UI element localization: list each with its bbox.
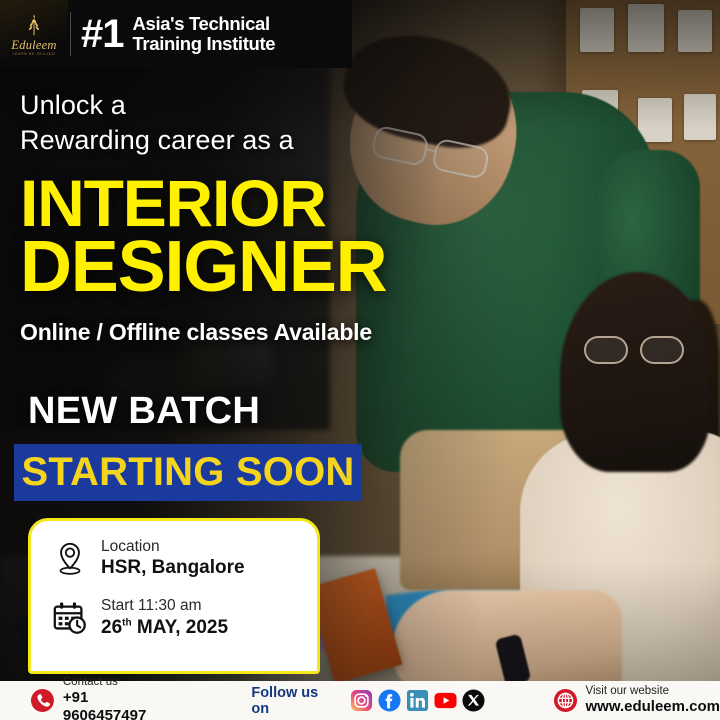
- brand-logo-wordmark: Eduleem: [11, 39, 56, 52]
- calendar-clock-icon: [51, 599, 89, 637]
- location-texts: Location HSR, Bangalore: [101, 537, 245, 580]
- website-block[interactable]: Visit our website www.eduleem.com: [553, 685, 720, 717]
- availability-text: Online / Offline classes Available: [20, 319, 490, 346]
- facebook-icon[interactable]: [378, 689, 401, 712]
- poster-canvas: Eduleem LEARN BE SKILLED #1 Asia's Techn…: [0, 0, 720, 720]
- header-tagline-line1: Asia's Technical: [133, 14, 276, 34]
- contact-texts: Contact us +91 9606457497: [63, 676, 175, 720]
- website-url: www.eduleem.com: [586, 698, 720, 716]
- wheat-feather-icon: [21, 12, 47, 38]
- x-twitter-icon[interactable]: [462, 689, 485, 712]
- brand-logo[interactable]: Eduleem LEARN BE SKILLED: [0, 0, 68, 68]
- kicker-line1: Unlock a: [20, 88, 490, 123]
- headline-block: Unlock a Rewarding career as a INTERIOR …: [20, 88, 490, 346]
- phone-icon: [30, 688, 55, 713]
- title-line1: INTERIOR: [20, 171, 490, 235]
- header-divider: [70, 12, 71, 56]
- website-texts: Visit our website www.eduleem.com: [586, 685, 720, 717]
- footer-bar: Contact us +91 9606457497 Follow us on: [0, 681, 720, 720]
- map-pin-icon: [51, 540, 89, 578]
- brand-logo-tagline: LEARN BE SKILLED: [13, 53, 56, 56]
- header-tagline-line2: Training Institute: [133, 34, 276, 54]
- contact-block[interactable]: Contact us +91 9606457497: [30, 676, 175, 720]
- globe-icon: [553, 688, 578, 713]
- location-label: Location: [101, 537, 245, 556]
- start-date-value: 26th MAY, 2025: [101, 616, 228, 640]
- location-value: HSR, Bangalore: [101, 556, 245, 580]
- header-tagline: Asia's Technical Training Institute: [133, 14, 276, 54]
- contact-label: Contact us: [63, 676, 175, 690]
- rank-badge: #1: [81, 16, 124, 53]
- location-row: Location HSR, Bangalore: [51, 537, 317, 580]
- datetime-texts: Start 11:30 am 26th MAY, 2025: [101, 596, 228, 639]
- social-links: [350, 689, 485, 712]
- youtube-icon[interactable]: [434, 689, 457, 712]
- contact-number: +91 9606457497: [63, 689, 175, 720]
- website-label: Visit our website: [586, 685, 720, 699]
- linkedin-icon[interactable]: [406, 689, 429, 712]
- follow-label: Follow us on: [251, 685, 339, 717]
- date-ordinal: th: [122, 617, 131, 628]
- date-month-year: MAY, 2025: [132, 617, 228, 638]
- starting-soon-label: STARTING SOON: [22, 450, 355, 495]
- new-batch-label: NEW BATCH: [28, 390, 260, 433]
- datetime-row: Start 11:30 am 26th MAY, 2025: [51, 596, 317, 639]
- starting-soon-banner: STARTING SOON: [14, 444, 362, 501]
- instagram-icon[interactable]: [350, 689, 373, 712]
- title-line2: DESIGNER: [20, 233, 490, 303]
- kicker-line2: Rewarding career as a: [20, 123, 490, 158]
- header-badge: Eduleem LEARN BE SKILLED #1 Asia's Techn…: [0, 0, 352, 68]
- start-time-label: Start 11:30 am: [101, 596, 228, 615]
- event-info-card: Location HSR, Bangalore Start 11:30 am: [28, 518, 320, 674]
- date-day: 26: [101, 617, 122, 638]
